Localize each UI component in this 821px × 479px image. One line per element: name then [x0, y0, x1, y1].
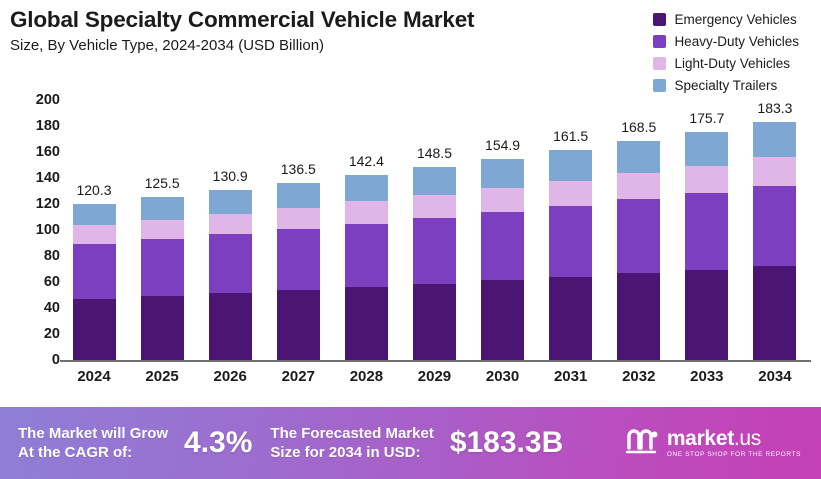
bar-segment: [209, 293, 252, 360]
y-axis-tick-label: 80: [2, 248, 60, 264]
bar-segment: [617, 141, 660, 173]
cagr-value: 4.3%: [184, 426, 252, 460]
bar-segment: [277, 229, 320, 290]
bar-column: 136.5: [270, 100, 326, 360]
bar-total-label: 120.3: [76, 182, 111, 198]
bar-total-label: 183.3: [757, 100, 792, 116]
x-axis-tick-label: 2034: [747, 368, 803, 385]
bar-segment: [209, 234, 252, 293]
x-axis-tick-label: 2029: [406, 368, 462, 385]
forecast-value: $183.3B: [450, 426, 563, 460]
bar-total-label: 136.5: [281, 161, 316, 177]
bar-segment: [141, 197, 184, 220]
y-axis-tick-label: 60: [2, 274, 60, 290]
bar-total-label: 148.5: [417, 145, 452, 161]
bar-column: 161.5: [543, 100, 599, 360]
forecast-caption-line2: Size for 2034 in USD:: [270, 444, 420, 461]
bar-segment: [617, 273, 660, 360]
bar-total-label: 130.9: [213, 168, 248, 184]
legend-item: Heavy-Duty Vehicles: [653, 30, 799, 52]
bar-stack: [413, 167, 456, 360]
bar-segment: [413, 218, 456, 284]
legend-item: Emergency Vehicles: [653, 8, 799, 30]
bar-segment: [617, 173, 660, 199]
y-axis-tick-label: 160: [2, 144, 60, 160]
bar-column: 125.5: [134, 100, 190, 360]
bar-column: 183.3: [747, 100, 803, 360]
bar-total-label: 125.5: [145, 175, 180, 191]
x-axis-tick-label: 2030: [475, 368, 531, 385]
bar-segment: [549, 181, 592, 206]
y-axis-tick-label: 140: [2, 170, 60, 186]
brand-suffix: .us: [734, 427, 761, 450]
legend-item-label: Heavy-Duty Vehicles: [674, 34, 799, 49]
title-block: Global Specialty Commercial Vehicle Mark…: [10, 6, 590, 57]
bar-segment: [345, 224, 388, 288]
bar-segment: [73, 204, 116, 226]
bar-segment: [549, 206, 592, 277]
cagr-caption-line1: The Market will Grow: [18, 425, 168, 442]
bar-segment: [209, 190, 252, 214]
bar-segment: [277, 183, 320, 208]
x-axis-line: [60, 360, 811, 362]
y-axis-tick-label: 200: [2, 92, 60, 108]
bar-stack: [617, 141, 660, 360]
bar-total-label: 161.5: [553, 128, 588, 144]
bar-segment: [141, 296, 184, 360]
cagr-caption-line2: At the CAGR of:: [18, 444, 132, 461]
bar-segment: [141, 220, 184, 240]
bar-segment: [549, 277, 592, 360]
bar-stack: [345, 175, 388, 360]
bar-segment: [481, 159, 524, 188]
legend-swatch-icon: [653, 35, 666, 48]
bar-segment: [345, 287, 388, 360]
legend-item: Light-Duty Vehicles: [653, 52, 799, 74]
bar-segment: [277, 290, 320, 360]
legend-item-label: Specialty Trailers: [674, 78, 777, 93]
legend-swatch-icon: [653, 79, 666, 92]
bar-total-label: 154.9: [485, 137, 520, 153]
bar-stack: [73, 204, 116, 360]
bar-segment: [345, 201, 388, 223]
bar-segment: [753, 266, 796, 361]
forecast-caption: The Forecasted Market Size for 2034 in U…: [270, 424, 433, 462]
page-title: Global Specialty Commercial Vehicle Mark…: [10, 6, 590, 33]
legend-swatch-icon: [653, 57, 666, 70]
y-axis-tick-label: 180: [2, 118, 60, 134]
bar-stack: [209, 190, 252, 360]
chart-page: Global Specialty Commercial Vehicle Mark…: [0, 0, 821, 479]
plot-area: 020406080100120140160180200 120.3125.513…: [0, 100, 821, 405]
x-axis-tick-label: 2026: [202, 368, 258, 385]
legend-item: Specialty Trailers: [653, 74, 799, 96]
bar-segment: [685, 132, 728, 166]
y-axis-tick-label: 20: [2, 326, 60, 342]
chart-legend: Emergency VehiclesHeavy-Duty VehiclesLig…: [653, 8, 799, 96]
bar-column: 142.4: [338, 100, 394, 360]
brand-text: market.us ONE STOP SHOP FOR THE REPORTS: [667, 428, 801, 459]
bar-column: 120.3: [66, 100, 122, 360]
bar-total-label: 142.4: [349, 153, 384, 169]
bar-series-area: 120.3125.5130.9136.5142.4148.5154.9161.5…: [66, 100, 803, 360]
bar-segment: [753, 186, 796, 266]
x-axis-tick-label: 2033: [679, 368, 735, 385]
x-axis-tick-label: 2028: [338, 368, 394, 385]
bar-segment: [277, 208, 320, 229]
y-axis: 020406080100120140160180200: [0, 100, 60, 360]
bar-stack: [549, 150, 592, 360]
bar-segment: [73, 299, 116, 360]
x-axis-tick-label: 2027: [270, 368, 326, 385]
bar-segment: [617, 199, 660, 273]
bar-segment: [73, 225, 116, 244]
bar-segment: [685, 270, 728, 360]
brand-tagline: ONE STOP SHOP FOR THE REPORTS: [667, 452, 801, 459]
forecast-caption-line1: The Forecasted Market: [270, 425, 433, 442]
bar-segment: [141, 239, 184, 296]
bar-segment: [413, 167, 456, 195]
bar-total-label: 175.7: [689, 110, 724, 126]
bar-stack: [481, 159, 524, 360]
x-axis: 2024202520262027202820292030203120322033…: [66, 368, 803, 385]
bar-total-label: 168.5: [621, 119, 656, 135]
bar-stack: [141, 197, 184, 360]
bar-segment: [413, 284, 456, 360]
bar-column: 130.9: [202, 100, 258, 360]
legend-swatch-icon: [653, 13, 666, 26]
y-axis-tick-label: 40: [2, 300, 60, 316]
bar-column: 148.5: [406, 100, 462, 360]
bar-segment: [753, 157, 796, 185]
bar-segment: [209, 214, 252, 235]
bar-segment: [685, 193, 728, 270]
y-axis-tick-label: 0: [2, 352, 60, 368]
bar-segment: [481, 212, 524, 281]
x-axis-tick-label: 2031: [543, 368, 599, 385]
bar-column: 168.5: [611, 100, 667, 360]
legend-item-label: Light-Duty Vehicles: [674, 56, 790, 71]
bar-stack: [753, 122, 796, 360]
brand-name: market.us: [667, 427, 761, 450]
bar-segment: [481, 280, 524, 360]
page-subtitle: Size, By Vehicle Type, 2024-2034 (USD Bi…: [10, 35, 590, 57]
bar-segment: [413, 195, 456, 218]
cagr-caption: The Market will Grow At the CAGR of:: [18, 424, 168, 462]
bar-segment: [753, 122, 796, 158]
bar-segment: [73, 244, 116, 299]
y-axis-tick-label: 120: [2, 196, 60, 212]
bar-segment: [481, 188, 524, 212]
bar-column: 175.7: [679, 100, 735, 360]
x-axis-tick-label: 2032: [611, 368, 667, 385]
footer-banner: The Market will Grow At the CAGR of: 4.3…: [0, 407, 821, 479]
bar-column: 154.9: [475, 100, 531, 360]
bar-stack: [685, 132, 728, 360]
x-axis-tick-label: 2025: [134, 368, 190, 385]
brand-logo: market.us ONE STOP SHOP FOR THE REPORTS: [625, 426, 801, 461]
bar-segment: [345, 175, 388, 201]
y-axis-tick-label: 100: [2, 222, 60, 238]
market-us-logo-icon: [625, 426, 659, 461]
bar-segment: [685, 166, 728, 193]
bar-stack: [277, 183, 320, 360]
legend-item-label: Emergency Vehicles: [674, 12, 796, 27]
bar-segment: [549, 150, 592, 181]
x-axis-tick-label: 2024: [66, 368, 122, 385]
